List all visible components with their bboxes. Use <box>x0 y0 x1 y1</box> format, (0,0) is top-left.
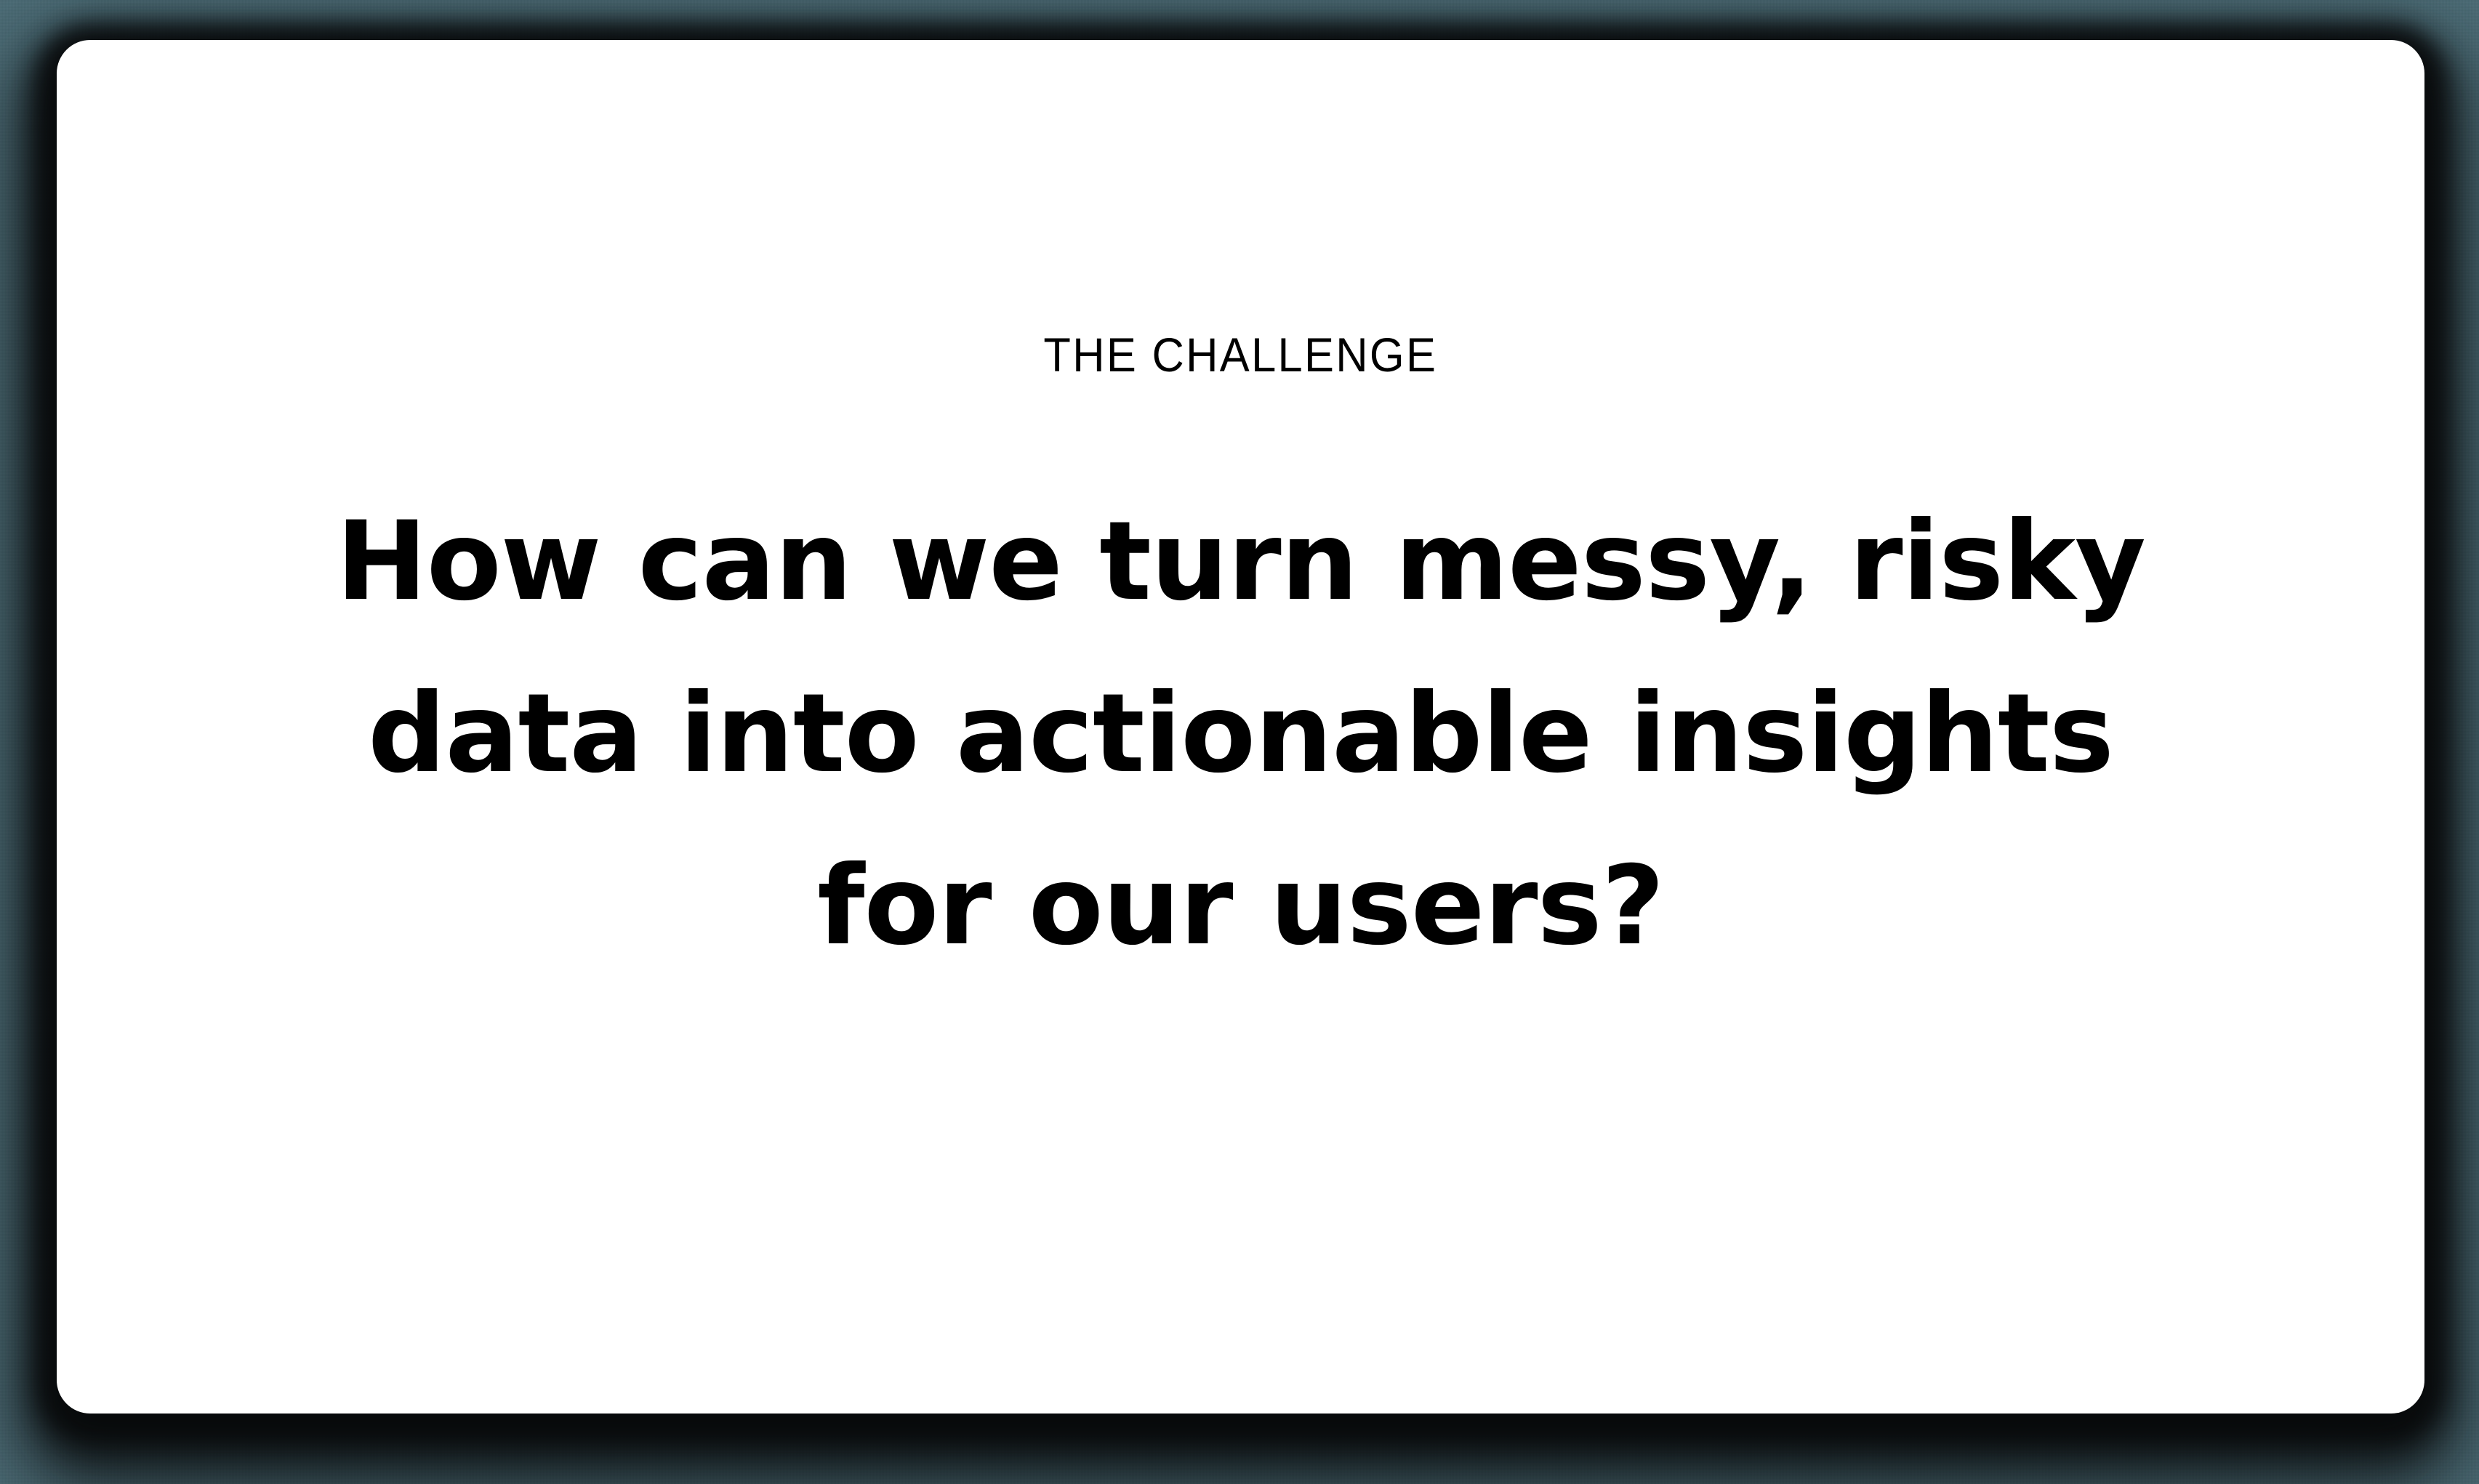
slide-headline: How can we turn messy, risky data into a… <box>57 476 2424 993</box>
slide-eyebrow: THE CHALLENGE <box>1044 331 1438 379</box>
slide-content: THE CHALLENGE How can we turn messy, ris… <box>57 40 2424 993</box>
slide-stage: THE CHALLENGE How can we turn messy, ris… <box>0 0 2479 1484</box>
headline-line-3: for our users? <box>57 820 2424 993</box>
slide-card: THE CHALLENGE How can we turn messy, ris… <box>57 40 2424 1414</box>
headline-line-2: data into actionable insights <box>57 648 2424 820</box>
headline-line-1: How can we turn messy, risky <box>57 476 2424 648</box>
